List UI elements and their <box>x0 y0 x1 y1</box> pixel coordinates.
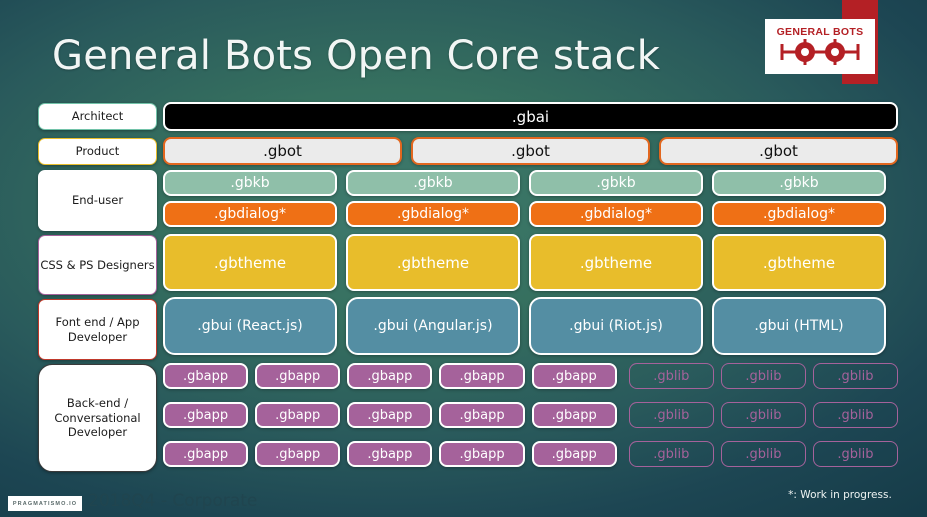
cell-gblib[interactable]: .gblib <box>813 402 898 428</box>
cell-gbapp[interactable]: .gbapp <box>255 363 340 389</box>
cell-gbot[interactable]: .gbot <box>411 137 650 165</box>
cell-label: .gbot <box>263 142 302 160</box>
cell-gbtheme[interactable]: .gbtheme <box>529 234 703 291</box>
sidebar-item-label: Architect <box>72 109 124 123</box>
cell-gbapp[interactable]: .gbapp <box>532 441 617 467</box>
cell-gbapp[interactable]: .gbapp <box>532 363 617 389</box>
sidebar-item-architect[interactable]: Architect <box>38 103 157 130</box>
sidebar-item-label: Font end / App Developer <box>39 315 156 344</box>
cell-label: .gbapp <box>459 369 504 384</box>
cell-gblib[interactable]: .gblib <box>629 363 714 389</box>
cell-gblib[interactable]: .gblib <box>721 441 806 467</box>
cell-gbkb[interactable]: .gbkb <box>346 170 520 196</box>
cell-label: .gblib <box>653 369 689 384</box>
row-gbui: .gbui (React.js) .gbui (Angular.js) .gbu… <box>163 297 898 355</box>
cell-gbdialog[interactable]: .gbdialog* <box>346 201 520 227</box>
cell-gbtheme[interactable]: .gbtheme <box>163 234 337 291</box>
cell-gbkb[interactable]: .gbkb <box>712 170 886 196</box>
cell-label: .gblib <box>837 369 873 384</box>
cell-label: .gbtheme <box>763 254 835 272</box>
cell-label: .gbapp <box>183 447 228 462</box>
cell-label: .gbot <box>759 142 798 160</box>
cell-label: .gbui (HTML) <box>754 318 843 334</box>
cell-label: .gblib <box>653 447 689 462</box>
logo-wordmark: GENERAL BOTS <box>777 27 864 38</box>
cell-gbapp[interactable]: .gbapp <box>255 441 340 467</box>
cell-label: .gbapp <box>459 408 504 423</box>
cell-gbapp[interactable]: .gbapp <box>163 363 248 389</box>
page-title: General Bots Open Core stack <box>52 33 660 79</box>
cell-gbtheme[interactable]: .gbtheme <box>712 234 886 291</box>
sidebar-item-label: CSS & PS Designers <box>40 258 154 272</box>
cell-label: .gbapp <box>183 369 228 384</box>
cell-label: .gbtheme <box>580 254 652 272</box>
cell-label: .gblib <box>745 408 781 423</box>
sidebar-item-label: Product <box>76 144 120 158</box>
cell-label: .gbui (Angular.js) <box>373 318 492 334</box>
cell-gbtheme[interactable]: .gbtheme <box>346 234 520 291</box>
pragmatismo-logo: PRAGMATISMO.IO <box>8 496 82 511</box>
cell-gbai[interactable]: .gbai <box>163 102 898 131</box>
cell-label: .gbkb <box>230 175 269 191</box>
sidebar-item-back-end-conversational-developer[interactable]: Back-end / Conversational Developer <box>38 364 157 472</box>
cell-gblib[interactable]: .gblib <box>813 363 898 389</box>
row-gbapp-gblib-3: .gbapp .gbapp .gbapp .gbapp .gbapp .gbli… <box>163 441 898 467</box>
cell-label: .gbdialog* <box>763 206 835 222</box>
row-gbai: .gbai <box>163 102 898 131</box>
slide-canvas: GENERAL BOTS <box>0 0 927 517</box>
gears-icon <box>778 38 862 66</box>
general-bots-logo: GENERAL BOTS <box>765 19 875 74</box>
cell-label: .gbkb <box>413 175 452 191</box>
cell-label: .gbtheme <box>214 254 286 272</box>
cell-gbui-riot[interactable]: .gbui (Riot.js) <box>529 297 703 355</box>
cell-label: .gblib <box>653 408 689 423</box>
cell-gbapp[interactable]: .gbapp <box>532 402 617 428</box>
cell-label: .gbapp <box>552 369 597 384</box>
sidebar-item-end-user[interactable]: End-user <box>38 170 157 231</box>
cell-gblib[interactable]: .gblib <box>629 441 714 467</box>
work-in-progress-note: *: Work in progress. <box>770 489 910 501</box>
cell-label: .gbapp <box>367 447 412 462</box>
cell-label: .gbapp <box>275 447 320 462</box>
cell-label: .gbdialog* <box>580 206 652 222</box>
cell-gbapp[interactable]: .gbapp <box>347 363 432 389</box>
cell-label: .gbapp <box>367 408 412 423</box>
cell-label: .gbapp <box>459 447 504 462</box>
sidebar-item-css-ps-designers[interactable]: CSS & PS Designers <box>38 235 157 295</box>
cell-label: .gbapp <box>183 408 228 423</box>
sidebar-item-product[interactable]: Product <box>38 138 157 165</box>
cell-gbkb[interactable]: .gbkb <box>529 170 703 196</box>
cell-label: .gblib <box>837 408 873 423</box>
cell-gbui-angular[interactable]: .gbui (Angular.js) <box>346 297 520 355</box>
row-gbtheme: .gbtheme .gbtheme .gbtheme .gbtheme <box>163 234 898 291</box>
cell-label: .gbapp <box>367 369 412 384</box>
row-gbdialog: .gbdialog* .gbdialog* .gbdialog* .gbdial… <box>163 201 898 227</box>
cell-label: .gbapp <box>275 408 320 423</box>
sidebar-item-label: Back-end / Conversational Developer <box>39 396 156 439</box>
row-gbot: .gbot .gbot .gbot <box>163 137 898 165</box>
cell-gbapp[interactable]: .gbapp <box>439 363 524 389</box>
cell-gblib[interactable]: .gblib <box>629 402 714 428</box>
row-gbapp-gblib-2: .gbapp .gbapp .gbapp .gbapp .gbapp .gbli… <box>163 402 898 428</box>
cell-gbapp[interactable]: .gbapp <box>163 402 248 428</box>
pragmatismo-wordmark: PRAGMATISMO.IO <box>13 501 77 507</box>
cell-label: .gbapp <box>552 447 597 462</box>
cell-label: .gbapp <box>275 369 320 384</box>
cell-gblib[interactable]: .gblib <box>813 441 898 467</box>
cell-label: .gblib <box>745 447 781 462</box>
cell-gbapp[interactable]: .gbapp <box>255 402 340 428</box>
cell-label: .gbai <box>512 108 549 126</box>
cell-label: .gbkb <box>779 175 818 191</box>
cell-gbapp[interactable]: .gbapp <box>439 441 524 467</box>
cell-label: .gbui (React.js) <box>197 318 302 334</box>
cell-gbdialog[interactable]: .gbdialog* <box>163 201 337 227</box>
footer-label: 2018Q4 - Corporate <box>88 491 257 511</box>
cell-gblib[interactable]: .gblib <box>721 402 806 428</box>
cell-gbot[interactable]: .gbot <box>659 137 898 165</box>
cell-label: .gblib <box>837 447 873 462</box>
cell-gbapp[interactable]: .gbapp <box>439 402 524 428</box>
row-gbapp-gblib-1: .gbapp .gbapp .gbapp .gbapp .gbapp .gbli… <box>163 363 898 389</box>
cell-gbdialog[interactable]: .gbdialog* <box>529 201 703 227</box>
cell-gbdialog[interactable]: .gbdialog* <box>712 201 886 227</box>
stack-diagram: Architect Product End-user CSS & PS Desi… <box>0 100 927 485</box>
cell-label: .gbdialog* <box>214 206 286 222</box>
cell-gblib[interactable]: .gblib <box>721 363 806 389</box>
row-gbkb: .gbkb .gbkb .gbkb .gbkb <box>163 170 898 196</box>
cell-gbapp[interactable]: .gbapp <box>163 441 248 467</box>
cell-gbui-html[interactable]: .gbui (HTML) <box>712 297 886 355</box>
sidebar-item-label: End-user <box>72 193 123 207</box>
cell-label: .gbapp <box>552 408 597 423</box>
cell-label: .gbkb <box>596 175 635 191</box>
cell-gbapp[interactable]: .gbapp <box>347 441 432 467</box>
cell-label: .gblib <box>745 369 781 384</box>
cell-gbui-react[interactable]: .gbui (React.js) <box>163 297 337 355</box>
cell-label: .gbot <box>511 142 550 160</box>
cell-label: .gbtheme <box>397 254 469 272</box>
cell-gbot[interactable]: .gbot <box>163 137 402 165</box>
cell-gbapp[interactable]: .gbapp <box>347 402 432 428</box>
cell-label: .gbui (Riot.js) <box>569 318 663 334</box>
sidebar-item-front-end-app-developer[interactable]: Font end / App Developer <box>38 299 157 360</box>
cell-label: .gbdialog* <box>397 206 469 222</box>
cell-gbkb[interactable]: .gbkb <box>163 170 337 196</box>
